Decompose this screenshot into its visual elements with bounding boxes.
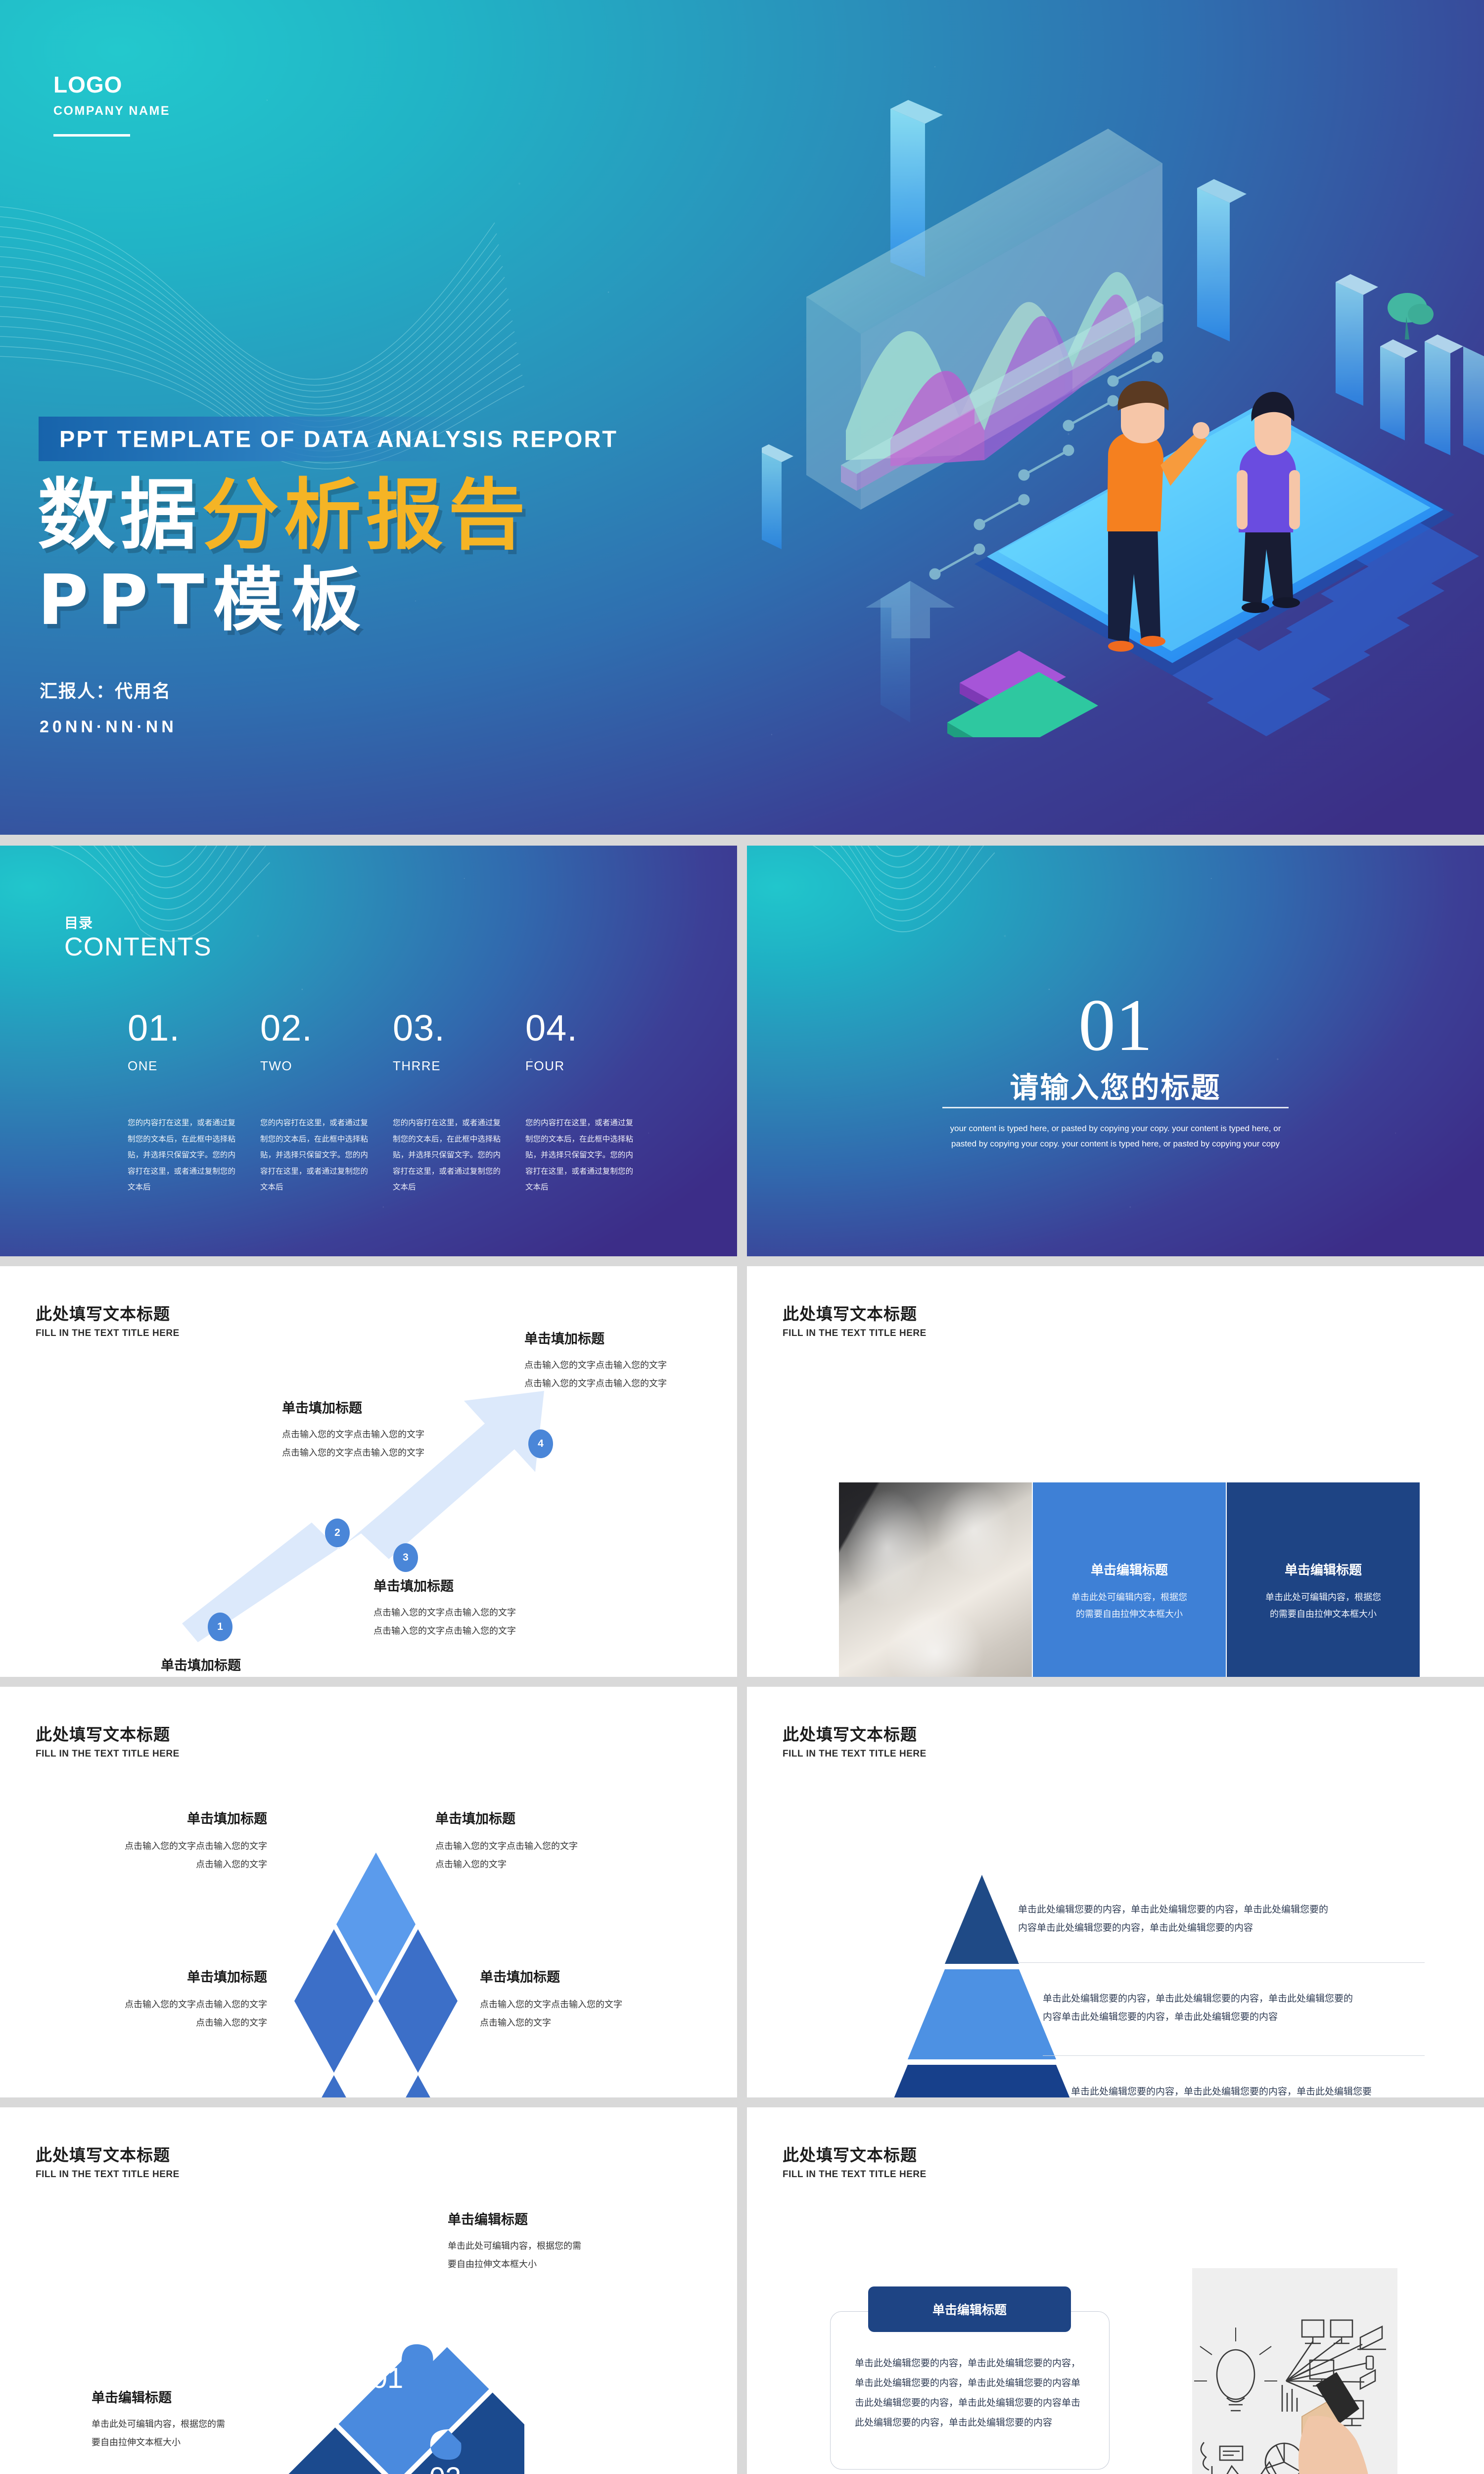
idea-sketch-photo [1192,2268,1397,2474]
contents-item-text: 您的内容打在这里，或者通过复制您的文本后，在此框中选择粘贴，并选择只保留文字。您… [260,1115,368,1196]
arrow-block-2: 单击填加标题 点击输入您的文字点击输入您的文字 点击输入您的文字点击输入您的文字 [282,1397,424,1462]
card-body-1-line1: 单击此处编辑您要的内容，单击此处编辑您要的内容， [855,2354,1092,2374]
info-box-light[interactable]: 单击编辑标题 单击此处可编辑内容，根据您 的需要自由拉伸文本框大小 [1033,1482,1226,1677]
pyramid-text-b-line1: 单击此处编辑您要的内容，单击此处编辑您要的内容，单击此处编辑您要的 [1043,1990,1411,2008]
puzzle-block-3: 单击编辑标题 单击此处可编辑内容，根据您的需 要自由拉伸文本框大小 [92,2387,314,2452]
contents-label-cn: 目录 [64,912,93,932]
presenter-text: 汇报人：代用名 [40,677,171,703]
pyramid-level-letter-a: A [888,1917,904,1942]
main-title-part2: 分析报告 [202,470,530,560]
step-marker-2[interactable]: 2 [325,1519,350,1547]
svg-text:01: 01 [371,2362,404,2394]
slide-photo-boxes: 此处填写文本标题 FILL IN THE TEXT TITLE HERE 单击编… [747,1266,1484,1677]
slide-contents: 目录 CONTENTS 01. ONE 您的内容打在这里，或者通过复制您的文本后… [0,846,737,1256]
slide-header: 此处填写文本标题 FILL IN THE TEXT TITLE HERE [783,2142,927,2180]
main-title-line2: PPT模板 [38,564,370,637]
block-line-1: 点击输入您的文字点击输入您的文字 [373,1604,516,1622]
english-subtitle-text: PPT TEMPLATE OF DATA ANALYSIS REPORT [59,426,618,453]
accent-gradient-bar [44,771,321,780]
slide-title-en: FILL IN THE TEXT TITLE HERE [36,1328,180,1339]
contents-items-row: 01. ONE 您的内容打在这里，或者通过复制您的文本后，在此框中选择粘贴，并选… [128,1010,658,1196]
slide-title-cover: LOGO COMPANY NAME [0,0,1484,835]
block-title: 单击填加标题 [64,1966,267,1986]
slide-title-en: FILL IN THE TEXT TITLE HERE [36,2169,180,2180]
block-line-2: 点击输入您的文字 [64,2014,267,2032]
block-title: 单击编辑标题 [92,2387,314,2406]
slide-diamonds: 此处填写文本标题 FILL IN THE TEXT TITLE HERE 单击填… [0,1687,737,2097]
info-box-line-1: 单击此处可编辑内容，根据您 [1249,1589,1398,1606]
diamond-block-4: 单击填加标题 点击输入您的文字点击输入您的文字 点击输入您的文字 [480,1966,683,2032]
contents-item-text: 您的内容打在这里，或者通过复制您的文本后，在此框中选择粘贴，并选择只保留文字。您… [393,1115,501,1196]
slide-title-en: FILL IN THE TEXT TITLE HERE [783,2169,927,2180]
section-title: 请输入您的标题 [747,1064,1484,1106]
slide-puzzle: 此处填写文本标题 FILL IN THE TEXT TITLE HERE 01 … [0,2107,737,2474]
contents-item-number: 03. [393,1010,525,1047]
slide-title-cn: 此处填写文本标题 [783,1721,927,1745]
block-line-1: 点击输入您的文字点击输入您的文字 [64,1996,267,2014]
pyramid-text-c: 单击此处编辑您要的内容，单击此处编辑您要的内容，单击此处编辑您要 的内容单击此处… [1071,2083,1439,2097]
slide-title-en: FILL IN THE TEXT TITLE HERE [783,1749,927,1760]
main-title-part1: 数据 [38,470,202,560]
contents-item-text: 您的内容打在这里，或者通过复制您的文本后，在此框中选择粘贴，并选择只保留文字。您… [525,1115,633,1196]
diamond-block-3: 单击填加标题 点击输入您的文字点击输入您的文字 点击输入您的文字 [64,1966,267,2032]
block-line-1: 单击此处可编辑内容，根据您的需 [92,2415,314,2433]
slide-title-cn: 此处填写文本标题 [36,1721,180,1745]
date-text: 20NN·NN·NN [40,717,177,737]
contents-item-label: THRRE [393,1058,525,1074]
contents-item-label: TWO [260,1058,393,1074]
step-marker-1[interactable]: 1 [208,1613,232,1641]
pyramid-level-letter-b: B [888,2001,902,2026]
step-marker-4[interactable]: 4 [528,1429,553,1458]
arrow-block-1: 单击填加标题 点击输入您的文字点击输入您的文字 点击输入您的文字点击输入您的文字 [161,1655,303,1677]
block-line-1: 点击输入您的文字点击输入您的文字 [282,1426,424,1444]
card-header-dark[interactable]: 单击编辑标题 [868,2286,1071,2332]
info-box-line-1: 单击此处可编辑内容，根据您 [1055,1589,1204,1606]
slide-title-cn: 此处填写文本标题 [36,2142,180,2166]
contents-item-number: 01. [128,1010,260,1047]
card-body-1: 单击此处编辑您要的内容，单击此处编辑您要的内容， 单击此处编辑您要的内容，单击此… [855,2354,1092,2433]
puzzle-block-1: 单击编辑标题 单击此处可编辑内容，根据您的需 要自由拉伸文本框大小 [448,2209,670,2274]
pyramid-level-letter-c: C [888,2095,902,2097]
info-box-line-2: 的需要自由拉伸文本框大小 [1055,1606,1204,1622]
hero-isometric-illustration [762,64,1484,737]
contents-item-04[interactable]: 04. FOUR 您的内容打在这里，或者通过复制您的文本后，在此框中选择粘贴，并… [525,1010,658,1196]
block-title: 单击填加标题 [524,1328,667,1347]
logo-underline [53,134,130,137]
arrow-block-3: 单击填加标题 点击输入您的文字点击输入您的文字 点击输入您的文字点击输入您的文字 [373,1575,516,1640]
block-title: 单击填加标题 [89,1808,267,1827]
block-title: 单击填加标题 [161,1655,303,1674]
section-description: your content is typed here, or pasted by… [947,1121,1284,1152]
contents-item-number: 04. [525,1010,658,1047]
block-line-2: 点击输入您的文字点击输入您的文字 [373,1622,516,1640]
section-number: 01 [747,988,1484,1062]
slide-header: 此处填写文本标题 FILL IN THE TEXT TITLE HERE [36,1301,180,1339]
pyramid-text-b-line2: 内容单击此处编辑您要的内容，单击此处编辑您要的内容 [1043,2008,1411,2026]
info-box-title: 单击编辑标题 [1249,1560,1398,1578]
slide-header: 此处填写文本标题 FILL IN THE TEXT TITLE HERE [783,1721,927,1760]
block-title: 单击填加标题 [435,1808,613,1827]
info-box-title: 单击编辑标题 [1055,1560,1204,1578]
block-line-2: 点击输入您的文字 [435,1855,613,1874]
contents-item-label: FOUR [525,1058,658,1074]
block-line-1: 点击输入您的文字点击输入您的文字 [435,1837,613,1855]
info-box-dark[interactable]: 单击编辑标题 单击此处可编辑内容，根据您 的需要自由拉伸文本框大小 [1227,1482,1420,1677]
slide-title-en: FILL IN THE TEXT TITLE HERE [783,1328,927,1339]
meeting-photo [839,1482,1032,1677]
block-line-1: 点击输入您的文字点击输入您的文字 [89,1837,267,1855]
block-line-1: 点击输入您的文字点击输入您的文字 [480,1996,683,2014]
pyramid-text-a-line2: 内容单击此处编辑您要的内容，单击此处编辑您要的内容 [1018,1919,1387,1937]
slide-pyramid: 此处填写文本标题 FILL IN THE TEXT TITLE HERE A B… [747,1687,1484,2097]
block-line-2: 点击输入您的文字点击输入您的文字 [524,1375,667,1393]
block-title: 单击填加标题 [480,1966,683,1986]
pyramid-rule-b [1043,2055,1425,2056]
contents-item-label: ONE [128,1058,260,1074]
block-title: 单击填加标题 [373,1575,516,1595]
logo-block: LOGO COMPANY NAME [53,73,170,137]
arrow-block-4: 单击填加标题 点击输入您的文字点击输入您的文字 点击输入您的文字点击输入您的文字 [524,1328,667,1393]
slide-title-cn: 此处填写文本标题 [783,2142,927,2166]
contents-item-01[interactable]: 01. ONE 您的内容打在这里，或者通过复制您的文本后，在此框中选择粘贴，并选… [128,1010,260,1196]
contents-label-en: CONTENTS [64,932,212,962]
diamond-cluster-shape [292,1850,460,2097]
contents-item-03[interactable]: 03. THRRE 您的内容打在这里，或者通过复制您的文本后，在此框中选择粘贴，… [393,1010,525,1196]
svg-text:02: 02 [429,2462,462,2474]
block-line-2: 要自由拉伸文本框大小 [92,2433,314,2452]
pyramid-text-c-line1: 单击此处编辑您要的内容，单击此处编辑您要的内容，单击此处编辑您要 [1071,2083,1439,2097]
slide-header: 此处填写文本标题 FILL IN THE TEXT TITLE HERE [36,2142,180,2180]
section-divider-rule [942,1107,1289,1108]
slide-title-cn: 此处填写文本标题 [783,1301,927,1325]
info-box-line-2: 的需要自由拉伸文本框大小 [1249,1606,1398,1622]
slide-cards-idea: 此处填写文本标题 FILL IN THE TEXT TITLE HERE 单击编… [747,2107,1484,2474]
contents-item-02[interactable]: 02. TWO 您的内容打在这里，或者通过复制您的文本后，在此框中选择粘贴，并选… [260,1010,393,1196]
pyramid-text-b: 单击此处编辑您要的内容，单击此处编辑您要的内容，单击此处编辑您要的 内容单击此处… [1043,1990,1411,2026]
slide-growth-arrow: 此处填写文本标题 FILL IN THE TEXT TITLE HERE 1 2… [0,1266,737,1677]
diamond-block-2: 单击填加标题 点击输入您的文字点击输入您的文字 点击输入您的文字 [435,1808,613,1874]
slide-title-en: FILL IN THE TEXT TITLE HERE [36,1749,180,1760]
block-line-1: 点击输入您的文字点击输入您的文字 [524,1356,667,1375]
pyramid-rule-a [1018,1962,1425,1963]
contents-item-number: 02. [260,1010,393,1047]
block-line-2: 点击输入您的文字 [89,1855,267,1874]
card-body-1-line4: 此处编辑您要的内容，单击此处编辑您要的内容 [855,2413,1092,2433]
wave-lines-decoration-corner [1227,1157,1484,1256]
pyramid-text-a: 单击此处编辑您要的内容，单击此处编辑您要的内容，单击此处编辑您要的 内容单击此处… [1018,1901,1387,1937]
slide-section-divider: 01 请输入您的标题 your content is typed here, o… [747,846,1484,1256]
english-subtitle-band: PPT TEMPLATE OF DATA ANALYSIS REPORT [39,417,469,461]
pyramid-text-a-line1: 单击此处编辑您要的内容，单击此处编辑您要的内容，单击此处编辑您要的 [1018,1901,1387,1919]
block-title: 单击编辑标题 [448,2209,670,2228]
ppt-template-preview: LOGO COMPANY NAME [0,0,1484,2474]
diamond-block-1: 单击填加标题 点击输入您的文字点击输入您的文字 点击输入您的文字 [89,1808,267,1874]
step-marker-3[interactable]: 3 [393,1543,418,1572]
block-title: 单击填加标题 [282,1397,424,1417]
main-title-line1: 数据分析报告 [38,475,530,556]
slide-header: 此处填写文本标题 FILL IN THE TEXT TITLE HERE [783,1301,927,1339]
block-line-1: 单击此处可编辑内容，根据您的需 [448,2237,670,2255]
card-body-1-line3: 击此处编辑您要的内容，单击此处编辑您要的内容单击 [855,2393,1092,2413]
block-line-2: 点击输入您的文字 [480,2014,683,2032]
block-line-2: 要自由拉伸文本框大小 [448,2255,670,2274]
slide-title-cn: 此处填写文本标题 [36,1301,180,1325]
company-name-text: COMPANY NAME [53,104,170,118]
card-body-1-line2: 单击此处编辑您要的内容，单击此处编辑您要的内容单 [855,2374,1092,2393]
logo-text: LOGO [53,73,170,96]
slide-header: 此处填写文本标题 FILL IN THE TEXT TITLE HERE [36,1721,180,1760]
contents-item-text: 您的内容打在这里，或者通过复制您的文本后，在此框中选择粘贴，并选择只保留文字。您… [128,1115,235,1196]
block-line-2: 点击输入您的文字点击输入您的文字 [282,1444,424,1462]
